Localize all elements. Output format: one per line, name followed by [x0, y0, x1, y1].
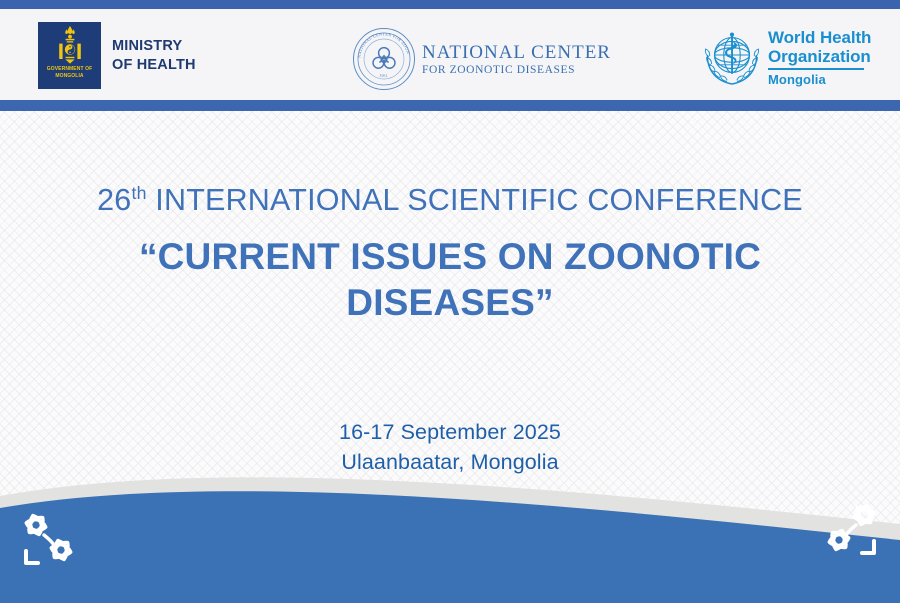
who-logo: World Health Organization Mongolia [703, 29, 871, 87]
conference-number: 26 [97, 183, 131, 217]
mongolian-knot-ornament-icon [14, 505, 88, 575]
emblem-caption-line1: GOVERNMENT OF [47, 66, 92, 73]
header-divider-bar [0, 100, 900, 111]
who-wordmark: World Health Organization Mongolia [768, 29, 871, 87]
bottom-wave-decoration [0, 468, 900, 603]
event-date: 16-17 September 2025 [0, 417, 900, 447]
soyombo-symbol-icon [57, 25, 83, 65]
title-block: 26th INTERNATIONAL SCIENTIFIC CONFERENCE… [0, 175, 900, 326]
conference-theme: “CURRENT ISSUES ON ZOONOTIC DISEASES” [0, 234, 900, 326]
svg-text:NATIONAL CENTER FOR ZOONOTIC D: NATIONAL CENTER FOR ZOONOTIC DISEASES [352, 27, 411, 58]
national-center-name-line2: FOR ZOONOTIC DISEASES [422, 63, 611, 77]
header-logo-strip: GOVERNMENT OF MONGOLIA MINISTRY OF HEALT… [0, 9, 900, 100]
who-emblem-icon [703, 29, 761, 87]
who-name-line2: Organization [768, 48, 871, 67]
national-center-logo: NATIONAL CENTER FOR ZOONOTIC DISEASES 19… [352, 27, 611, 91]
svg-text:1951: 1951 [379, 72, 388, 78]
national-center-name-line1: NATIONAL CENTER [422, 42, 611, 63]
conference-title-slide: GOVERNMENT OF MONGOLIA MINISTRY OF HEALT… [0, 0, 900, 603]
government-of-mongolia-emblem: GOVERNMENT OF MONGOLIA [38, 22, 101, 89]
mongolian-knot-ornament-icon [812, 495, 886, 565]
conference-title-rest: INTERNATIONAL SCIENTIFIC CONFERENCE [147, 183, 803, 217]
ministry-name-line1: MINISTRY [112, 37, 196, 56]
ministry-of-health-logo: GOVERNMENT OF MONGOLIA MINISTRY OF HEALT… [38, 22, 196, 89]
top-accent-bar [0, 0, 900, 9]
national-center-name: NATIONAL CENTER FOR ZOONOTIC DISEASES [422, 42, 611, 77]
emblem-caption: GOVERNMENT OF MONGOLIA [47, 66, 92, 79]
ministry-name-line2: OF HEALTH [112, 56, 196, 75]
mongolian-knot-ornament-left [14, 505, 88, 575]
conference-number-ordinal: th [131, 183, 146, 203]
mongolian-knot-ornament-right [812, 495, 886, 565]
ministry-name: MINISTRY OF HEALTH [112, 37, 196, 75]
conference-title: 26th INTERNATIONAL SCIENTIFIC CONFERENCE [0, 175, 900, 218]
emblem-caption-line2: MONGOLIA [47, 73, 92, 80]
who-name-line1: World Health [768, 29, 871, 48]
who-divider-rule [768, 68, 864, 70]
who-country-label: Mongolia [768, 72, 871, 87]
zoonotic-center-seal-icon: NATIONAL CENTER FOR ZOONOTIC DISEASES 19… [352, 27, 416, 91]
